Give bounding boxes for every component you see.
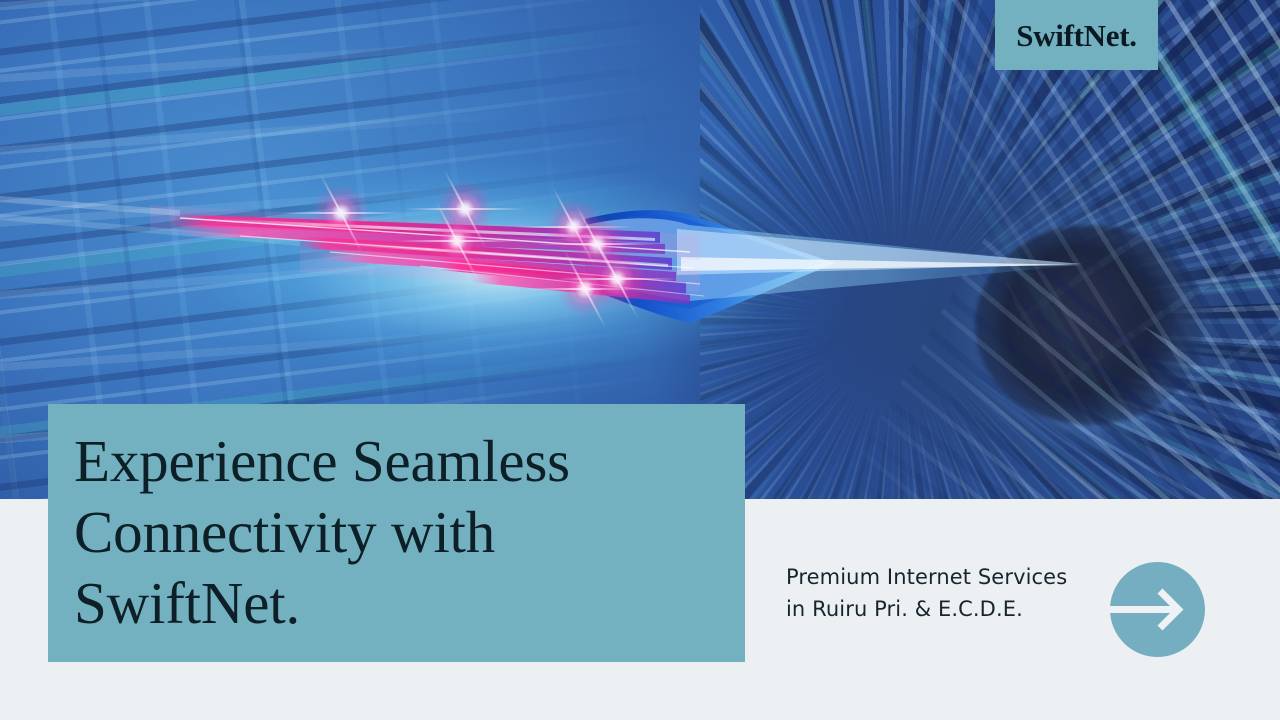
footer-bar: Premium Internet Services in Ruiru Pri. … xyxy=(745,499,1280,720)
banner-canvas: Premium Internet Services in Ruiru Pri. … xyxy=(0,0,1280,720)
cta-arrow-button[interactable] xyxy=(1110,562,1205,657)
logo-text: SwiftNet. xyxy=(1016,20,1136,51)
logo-badge[interactable]: SwiftNet. xyxy=(995,0,1158,70)
arrow-right-icon xyxy=(1110,562,1205,657)
tagline: Premium Internet Services in Ruiru Pri. … xyxy=(786,561,1067,625)
headline-panel: Experience Seamless Connectivity with Sw… xyxy=(48,404,745,662)
page-title: Experience Seamless Connectivity with Sw… xyxy=(74,426,715,639)
